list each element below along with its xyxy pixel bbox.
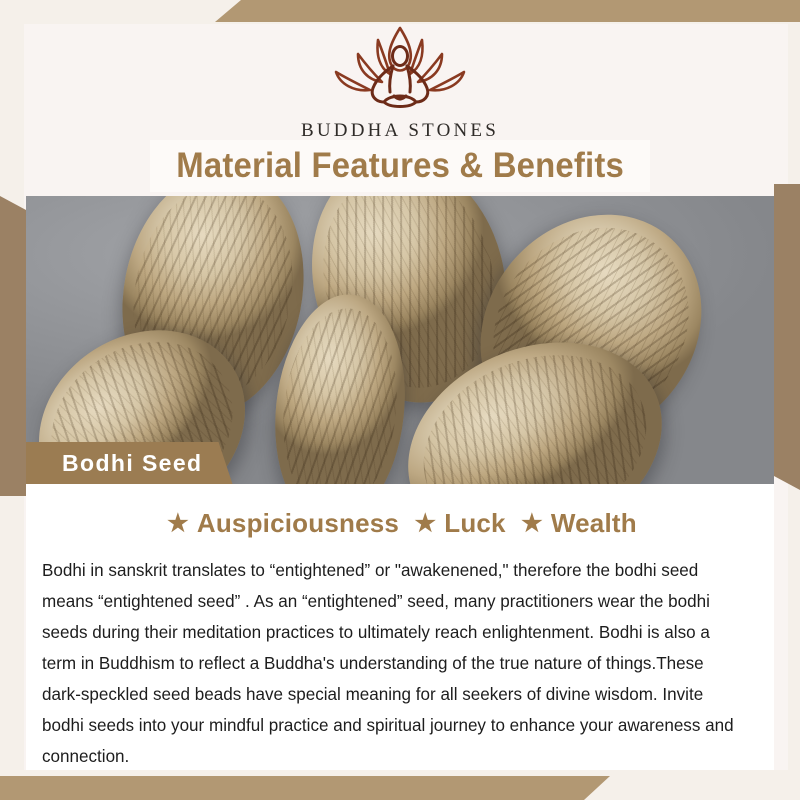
content-card: ★Auspiciousness ★Luck ★Wealth Bodhi in s… xyxy=(26,484,774,770)
lotus-meditation-figure-icon xyxy=(310,22,490,118)
brand-logo-block: BUDDHA STONES xyxy=(0,22,800,142)
decorative-bar-right xyxy=(774,184,800,490)
poster-root: BUDDHA STONES Material Features & Benefi… xyxy=(0,0,800,800)
decorative-bar-left xyxy=(0,196,26,496)
title-banner: Material Features & Benefits xyxy=(150,140,650,192)
product-name-text: Bodhi Seed xyxy=(62,450,203,477)
star-icon: ★ xyxy=(167,510,189,537)
decorative-bar-bottom xyxy=(0,776,610,800)
brand-name: BUDDHA STONES xyxy=(0,120,800,142)
decorative-bar-top xyxy=(215,0,800,22)
description-paragraph: Bodhi in sanskrit translates to “entight… xyxy=(42,555,737,772)
benefits-line: ★Auspiciousness ★Luck ★Wealth xyxy=(26,508,774,539)
benefit-wealth: Wealth xyxy=(551,508,637,538)
benefit-luck: Luck xyxy=(444,508,505,538)
star-icon: ★ xyxy=(521,510,543,537)
star-icon: ★ xyxy=(415,510,437,537)
benefit-auspiciousness: Auspiciousness xyxy=(197,508,399,538)
product-name-badge: Bodhi Seed xyxy=(26,442,233,484)
page-title: Material Features & Benefits xyxy=(176,146,624,186)
product-photo: Bodhi Seed xyxy=(26,196,774,484)
